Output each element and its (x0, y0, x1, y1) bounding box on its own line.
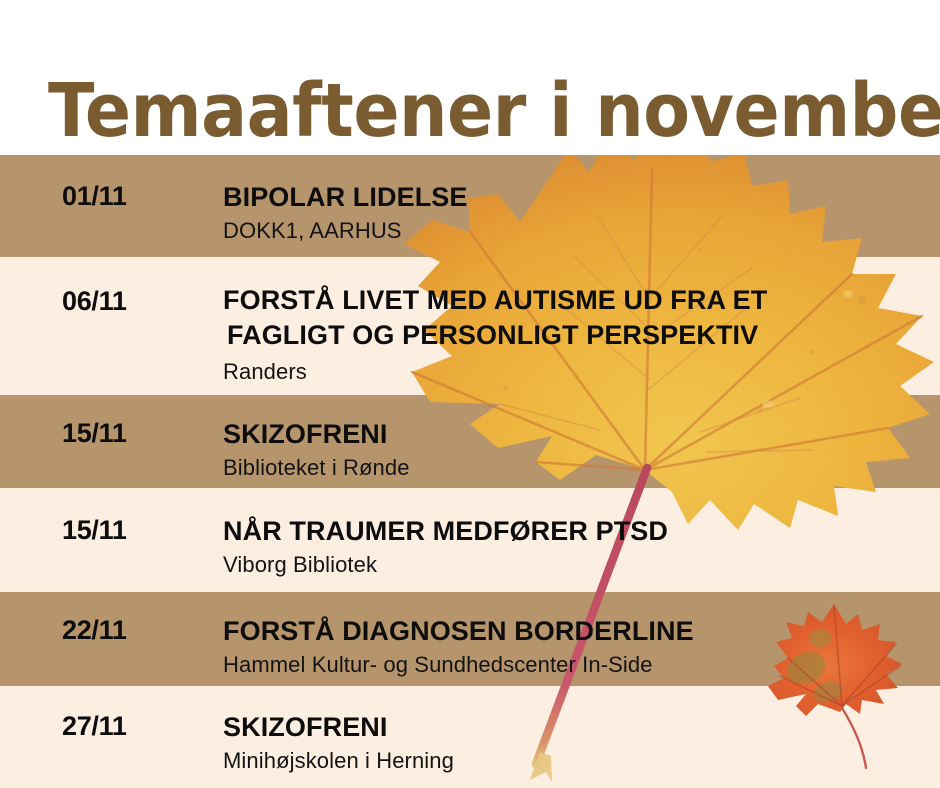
event-body: NÅR TRAUMER MEDFØRER PTSD Viborg Bibliot… (223, 514, 923, 579)
title-area: Temaaftener i november (0, 0, 940, 155)
event-title-line-1: FORSTÅ LIVET MED AUTISME UD FRA ET (223, 285, 767, 315)
event-row[interactable]: 22/11 FORSTÅ DIAGNOSEN BORDERLINE Hammel… (0, 592, 940, 686)
event-date: 22/11 (62, 615, 127, 646)
page-title: Temaaftener i november (48, 74, 940, 148)
event-date: 27/11 (62, 711, 127, 742)
event-date: 15/11 (62, 515, 127, 546)
event-location: DOKK1, AARHUS (223, 217, 923, 246)
event-title: FORSTÅ LIVET MED AUTISME UD FRA ET FAGLI… (223, 283, 923, 352)
event-location: Viborg Bibliotek (223, 551, 923, 580)
event-title: BIPOLAR LIDELSE (223, 180, 923, 215)
event-row[interactable]: 06/11 FORSTÅ LIVET MED AUTISME UD FRA ET… (0, 257, 940, 395)
event-row[interactable]: 15/11 NÅR TRAUMER MEDFØRER PTSD Viborg B… (0, 488, 940, 592)
event-row[interactable]: 01/11 BIPOLAR LIDELSE DOKK1, AARHUS (0, 155, 940, 257)
event-location: Biblioteket i Rønde (223, 454, 923, 483)
event-row[interactable]: 27/11 SKIZOFRENI Minihøjskolen i Herning (0, 686, 940, 788)
event-location: Randers (223, 358, 923, 387)
poster-canvas: Temaaftener i november 01/11 BIPOLAR LID… (0, 0, 940, 788)
event-body: SKIZOFRENI Minihøjskolen i Herning (223, 710, 923, 775)
event-body: BIPOLAR LIDELSE DOKK1, AARHUS (223, 180, 923, 245)
event-date: 15/11 (62, 418, 127, 449)
event-title-line-2: FAGLIGT OG PERSONLIGT PERSPEKTIV (223, 318, 923, 353)
event-row[interactable]: 15/11 SKIZOFRENI Biblioteket i Rønde (0, 395, 940, 488)
event-date: 06/11 (62, 286, 127, 317)
event-date: 01/11 (62, 181, 127, 212)
event-body: FORSTÅ LIVET MED AUTISME UD FRA ET FAGLI… (223, 283, 923, 387)
event-list: 01/11 BIPOLAR LIDELSE DOKK1, AARHUS 06/1… (0, 155, 940, 788)
event-title: SKIZOFRENI (223, 417, 923, 452)
event-body: SKIZOFRENI Biblioteket i Rønde (223, 417, 923, 482)
event-title: SKIZOFRENI (223, 710, 923, 745)
event-location: Minihøjskolen i Herning (223, 747, 923, 776)
event-location: Hammel Kultur- og Sundhedscenter In-Side (223, 651, 923, 680)
event-title: FORSTÅ DIAGNOSEN BORDERLINE (223, 614, 923, 649)
event-body: FORSTÅ DIAGNOSEN BORDERLINE Hammel Kultu… (223, 614, 923, 679)
event-title: NÅR TRAUMER MEDFØRER PTSD (223, 514, 923, 549)
